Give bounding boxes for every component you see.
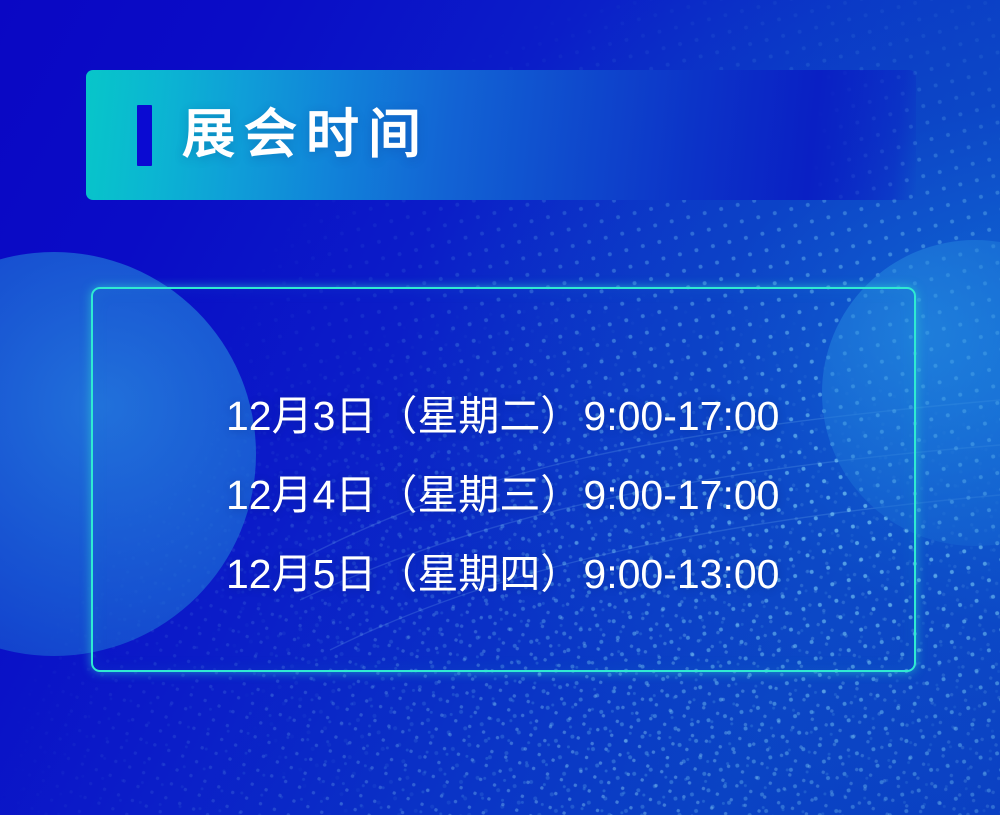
schedule-weekday: （星期四） [376, 551, 581, 597]
schedule-time: 9:00-13:00 [583, 551, 779, 597]
schedule-list: 12月3日（星期二）9:00-17:00 12月4日（星期三）9:00-17:0… [226, 377, 826, 614]
schedule-date: 12月5日 [226, 551, 376, 597]
page-title: 展会时间 [182, 103, 430, 167]
schedule-weekday: （星期二） [376, 393, 581, 439]
schedule-time: 9:00-17:00 [583, 393, 779, 439]
title-accent-bar-icon [137, 105, 152, 166]
schedule-row: 12月3日（星期二）9:00-17:00 [226, 377, 826, 456]
schedule-date: 12月4日 [226, 472, 376, 518]
schedule-weekday: （星期三） [376, 472, 581, 518]
exhibition-time-poster: 展会时间 12月3日（星期二）9:00-17:00 12月4日（星期三）9:00… [0, 0, 1000, 815]
schedule-row: 12月5日（星期四）9:00-13:00 [226, 535, 826, 614]
schedule-date: 12月3日 [226, 393, 376, 439]
schedule-row: 12月4日（星期三）9:00-17:00 [226, 456, 826, 535]
schedule-time: 9:00-17:00 [583, 472, 779, 518]
